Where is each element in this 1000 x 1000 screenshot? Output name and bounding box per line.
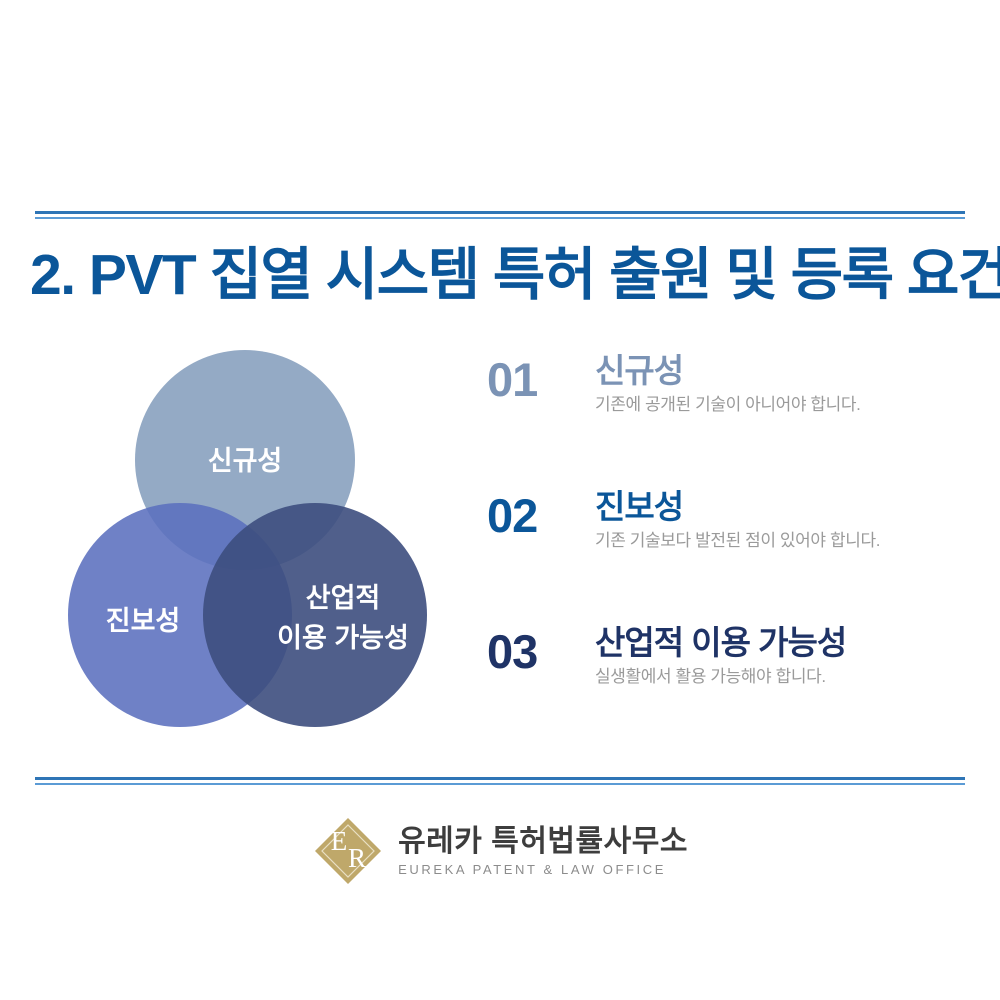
requirement-heading-02: 진보성	[595, 488, 965, 526]
venn-label-industrial-applicability-line2: 이용 가능성	[277, 623, 409, 653]
venn-circle-industrial-applicability	[203, 503, 427, 727]
requirement-description-02: 기존 기술보다 발전된 점이 있어야 합니다.	[595, 530, 965, 551]
requirement-number-02: 02	[487, 492, 537, 539]
divider-bottom-thin-line	[35, 783, 965, 785]
requirement-body-03: 산업적 이용 가능성 실생활에서 활용 가능해야 합니다.	[595, 624, 965, 687]
requirement-number-01: 01	[487, 356, 537, 403]
slide-canvas: 2. PVT 집열 시스템 특허 출원 및 등록 요건 신규성 진보성 산업적 …	[0, 0, 1000, 1000]
requirement-description-01: 기존에 공개된 기술이 아니어야 합니다.	[595, 394, 965, 415]
divider-bottom	[35, 777, 965, 785]
eureka-diamond-logo-icon: E R	[312, 815, 384, 887]
requirement-body-02: 진보성 기존 기술보다 발전된 점이 있어야 합니다.	[595, 488, 965, 551]
requirement-heading-01: 신규성	[595, 352, 965, 390]
requirement-item-02: 02 진보성 기존 기술보다 발전된 점이 있어야 합니다.	[487, 488, 967, 624]
venn-label-novelty: 신규성	[208, 446, 283, 476]
divider-top	[35, 211, 965, 219]
requirement-item-01: 01 신규성 기존에 공개된 기술이 아니어야 합니다.	[487, 352, 967, 488]
logo-name-english: EUREKA PATENT & LAW OFFICE	[398, 862, 688, 879]
footer-logo: E R 유레카 특허법률사무소 EUREKA PATENT & LAW OFFI…	[0, 815, 1000, 887]
requirement-body-01: 신규성 기존에 공개된 기술이 아니어야 합니다.	[595, 352, 965, 415]
requirement-heading-03: 산업적 이용 가능성	[595, 624, 965, 662]
logo-monogram-e: E	[331, 826, 348, 856]
venn-label-industrial-applicability-line1: 산업적	[306, 583, 381, 613]
requirement-description-03: 실생활에서 활용 가능해야 합니다.	[595, 666, 965, 687]
logo-monogram-r: R	[348, 843, 366, 873]
logo-wordmark: 유레카 특허법률사무소 EUREKA PATENT & LAW OFFICE	[398, 823, 688, 879]
page-title: 2. PVT 집열 시스템 특허 출원 및 등록 요건	[30, 243, 970, 309]
requirement-item-03: 03 산업적 이용 가능성 실생활에서 활용 가능해야 합니다.	[487, 624, 967, 760]
venn-diagram: 신규성 진보성 산업적 이용 가능성	[55, 345, 455, 745]
logo-name-korean: 유레카 특허법률사무소	[398, 825, 688, 858]
divider-top-thick-line	[35, 211, 965, 214]
requirements-list: 01 신규성 기존에 공개된 기술이 아니어야 합니다. 02 진보성 기존 기…	[487, 352, 967, 760]
venn-label-inventive-step: 진보성	[106, 606, 181, 636]
requirement-number-03: 03	[487, 628, 537, 675]
divider-bottom-thick-line	[35, 777, 965, 780]
divider-top-thin-line	[35, 217, 965, 219]
